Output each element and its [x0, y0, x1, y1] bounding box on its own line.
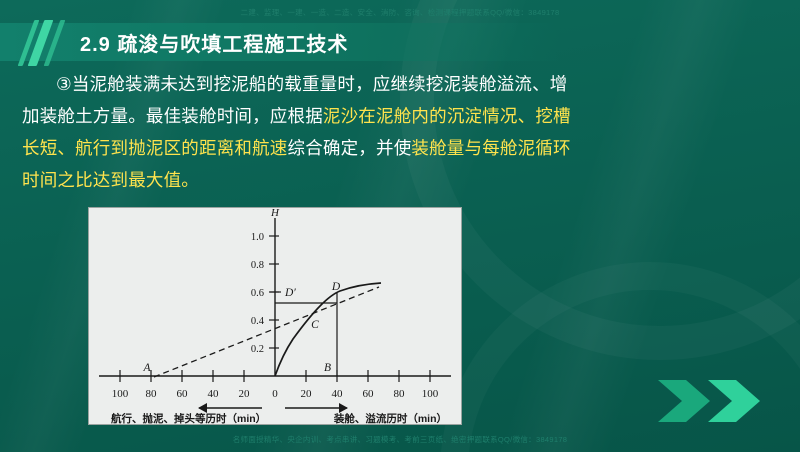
svg-text:60: 60	[177, 388, 189, 400]
svg-text:100: 100	[422, 388, 439, 400]
chart-svg: H 0.2 0.4 0.6 0.8 1.0	[89, 208, 461, 424]
svg-text:0.6: 0.6	[251, 288, 264, 299]
svg-text:0.8: 0.8	[251, 260, 264, 271]
y-axis-label: H	[270, 208, 280, 219]
svg-text:20: 20	[239, 388, 251, 400]
chevron-decoration-icon	[656, 378, 776, 424]
slide-root: 二建、监理、一建、一造、二造、安全、消防、咨询、检测课程押题联系QQ/微信：38…	[0, 0, 800, 452]
x-axis-tick-labels: 100 80 60 40 20 0 20 40 60 80 100	[112, 388, 439, 400]
svg-text:1.0: 1.0	[251, 232, 264, 243]
chart-xlabel-left: 航行、抛泥、掉头等历时（min）	[111, 412, 266, 424]
svg-text:80: 80	[146, 388, 158, 400]
svg-text:0.2: 0.2	[251, 344, 264, 355]
svg-text:20: 20	[301, 388, 313, 400]
watermark-top: 二建、监理、一建、一造、二造、安全、消防、咨询、检测课程押题联系QQ/微信：38…	[0, 7, 800, 18]
svg-text:40: 40	[208, 388, 220, 400]
y-axis-tick-labels: 0.2 0.4 0.6 0.8 1.0	[251, 232, 265, 355]
body-paragraph: ③当泥舱装满未达到挖泥船的载重量时，应继续挖泥装舱溢流、增加装舱土方量。最佳装舱…	[22, 68, 582, 196]
chart-xlabel-right: 装舱、溢流历时（min）	[333, 412, 447, 424]
svg-text:60: 60	[363, 388, 375, 400]
svg-text:80: 80	[394, 388, 406, 400]
chart-point-labels: A B C D D′	[142, 281, 340, 374]
direction-arrow-left	[198, 403, 262, 413]
body-line3-plain: 综	[288, 138, 306, 158]
page-title: 2.9 疏浚与吹填工程施工技术	[80, 28, 348, 57]
chart-label-D-prime: D′	[284, 287, 296, 299]
svg-text:0: 0	[272, 388, 278, 400]
svg-text:40: 40	[332, 388, 344, 400]
secant-line-dashed	[154, 287, 379, 377]
body-line1: ③当泥舱装满未达到挖泥船的载重量时，应继续挖泥装	[56, 74, 479, 94]
watermark-bottom: 名师面授精华、央企内训、考点串讲、习题模考、考前三页纸、绝密押题联系QQ/微信：…	[0, 434, 800, 445]
chart-label-D: D	[331, 281, 341, 293]
chart-label-A: A	[142, 362, 151, 374]
chart-figure: H 0.2 0.4 0.6 0.8 1.0	[88, 207, 462, 425]
direction-arrow-right	[285, 403, 348, 413]
chart-label-C: C	[311, 319, 319, 331]
svg-text:100: 100	[112, 388, 129, 400]
body-line4-plain: 合确定，并使	[305, 138, 411, 158]
chart-label-B: B	[324, 362, 331, 374]
body-line2-highlight: 泥沙在泥	[323, 106, 394, 126]
svg-text:0.4: 0.4	[251, 316, 265, 327]
